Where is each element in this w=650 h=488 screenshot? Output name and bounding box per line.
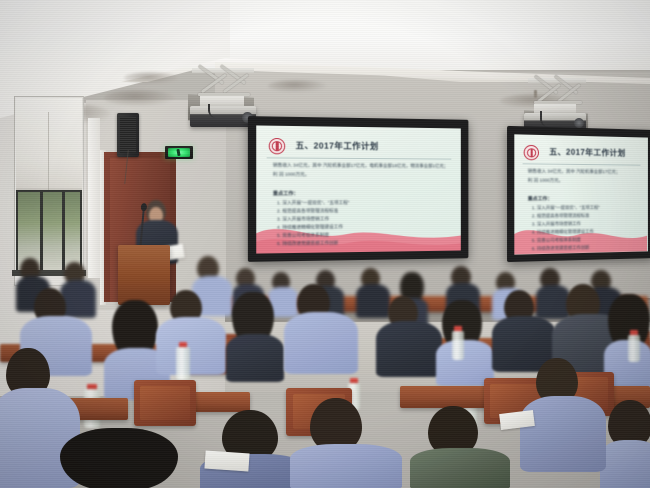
torso — [356, 284, 390, 318]
left-slide-item-2: 2. 规范提高各项管理流程标准 — [277, 208, 338, 214]
hair — [60, 428, 178, 488]
torso — [290, 444, 402, 488]
left-slide-body-line-2: 利 润 1000万元。 — [273, 172, 310, 178]
bottle-body — [628, 335, 640, 362]
left-slide-company-emblem-icon — [269, 138, 286, 154]
exit-running-man-icon — [168, 148, 190, 157]
right-screen-slide: 五、2017年工作计划 销售收入 34亿元，其中 汽轮机事业部17亿元； 利 润… — [514, 134, 648, 254]
torso — [226, 334, 284, 382]
left-slide-item-6: 6. 持续改进党建思想工作创新 — [277, 240, 338, 247]
right-slide-title: 五、2017年工作计划 — [549, 146, 625, 158]
left-slide-item-4: 4. 持续推进精细化管理建设工作 — [277, 224, 343, 231]
projector-2-lens-icon — [574, 118, 584, 128]
water-bottle-4[interactable] — [628, 330, 640, 362]
torso — [600, 440, 650, 488]
handout-paper-2[interactable] — [204, 450, 249, 471]
torso — [520, 396, 606, 472]
podium — [118, 245, 170, 305]
exit-sign-icon — [165, 146, 193, 159]
torso — [284, 312, 358, 374]
torso — [376, 321, 442, 377]
right-slide-company-emblem-icon — [524, 145, 539, 161]
right-slide-item-4: 4. 持续推进精细化管理建设工作 — [532, 229, 594, 236]
left-slide-title: 五、2017年工作计划 — [295, 139, 378, 152]
left-slide-item-3: 3. 深入开展市场营销工作 — [277, 216, 329, 222]
water-bottle-3[interactable] — [452, 326, 464, 360]
ceiling-vent-smudge-2 — [104, 90, 174, 106]
torso — [156, 317, 226, 375]
right-slide-item-5: 5. 完善公司考核体系制度 — [532, 237, 581, 244]
projector-1-scissor-arms — [194, 71, 252, 97]
right-slide-item-3: 3. 深入开展市场营销工作 — [532, 221, 581, 228]
left-slide-title-rule — [267, 157, 452, 159]
left-slide-body-line-1: 销售收入 34亿元，其中 汽轮机事业部17亿元，电机事业部18亿元，物流事业部1… — [273, 162, 448, 169]
ceiling-vent-smudge-3 — [124, 72, 178, 84]
bottle-body — [452, 331, 464, 360]
torso — [410, 448, 510, 488]
left-slide-item-5: 5. 完善公司考核体系制度 — [277, 232, 329, 239]
window-right-jamb — [88, 118, 100, 278]
right-slide-body-line-2: 利 润 1000万元。 — [528, 178, 563, 184]
right-slide-body-line-1: 销售收入 34亿元，其中 汽轮机事业部17亿元； — [528, 168, 620, 175]
ceiling-vent-smudge-4 — [268, 80, 326, 92]
left-screen-slide: 五、2017年工作计划 销售收入 34亿元，其中 汽轮机事业部17亿元，电机事业… — [256, 125, 461, 253]
projector-2-cable — [540, 111, 552, 127]
projector-2-scissor-arms — [530, 81, 584, 105]
left-slide-item-1: 1. 深入开展"一提双优"、"五项工程" — [277, 200, 349, 206]
window-roller-blind[interactable] — [16, 98, 82, 190]
water-bottle-2[interactable] — [176, 342, 190, 380]
right-slide-subheading: 重点工作： — [528, 195, 552, 202]
bottle-body — [176, 347, 190, 380]
blind-seam — [48, 112, 49, 190]
window-mullion-2 — [62, 190, 65, 272]
conference-room-photo: 五、2017年工作计划 销售收入 34亿元，其中 汽轮机事业部17亿元，电机事业… — [0, 0, 650, 488]
right-slide-item-1: 1. 深入开展"一提双优"、"五项工程" — [532, 205, 600, 211]
window-mullion-1 — [40, 190, 43, 272]
projector-1-mount-bracket — [200, 96, 244, 106]
left-screen[interactable]: 五、2017年工作计划 销售收入 34亿元，其中 汽轮机事业部17亿元，电机事业… — [248, 116, 468, 262]
chair-row-2-a[interactable] — [134, 380, 196, 426]
left-slide-subheading: 重点工作： — [273, 190, 299, 197]
right-slide-item-2: 2. 规范提高各项管理流程标准 — [532, 213, 590, 220]
torso — [536, 285, 570, 319]
right-screen[interactable]: 五、2017年工作计划 销售收入 34亿元，其中 汽轮机事业部17亿元； 利 润… — [507, 126, 650, 262]
right-slide-title-rule — [523, 163, 641, 165]
